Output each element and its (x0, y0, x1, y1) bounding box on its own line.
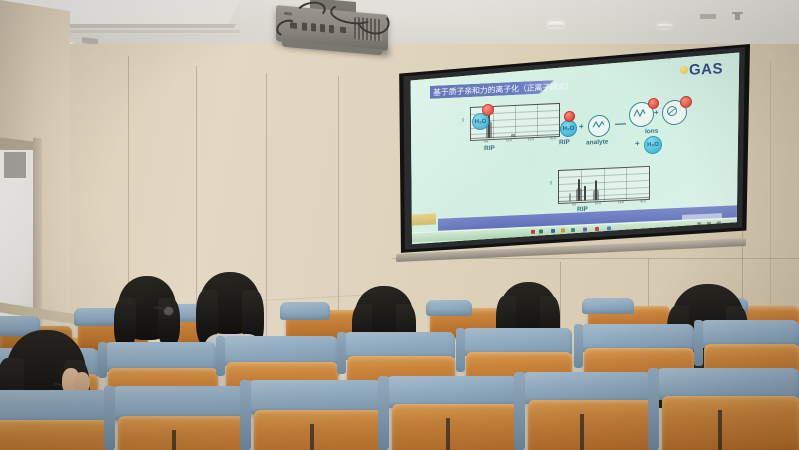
x-tick-label: 20.0 (640, 199, 646, 203)
seat-armrest (98, 342, 107, 378)
x-tick-label: 5.0 (484, 139, 488, 143)
x-tick-label: 10.0 (506, 138, 512, 142)
chart-plot-area (558, 166, 650, 204)
sprinkler-head (735, 12, 740, 20)
seat-armrest (104, 386, 115, 450)
gridline (537, 105, 538, 137)
projector-port (320, 24, 325, 32)
ion-structure-icon (665, 105, 681, 118)
projection-screen[interactable]: GAS 基于质子亲和力的离子化（正离子模式） (392, 44, 750, 256)
recessed-light (548, 22, 564, 27)
seat-armrest (694, 320, 703, 366)
projector-port (302, 22, 307, 30)
taskbar-icon[interactable] (583, 227, 587, 231)
projector-indicator (284, 12, 292, 16)
taskbar-icon[interactable] (571, 228, 575, 232)
seat-armrest (456, 328, 465, 372)
seat-armrest (648, 368, 659, 450)
x-tick-label: 15.0 (528, 137, 534, 141)
seat-armrest (378, 376, 389, 450)
ions-label: Ions (645, 128, 658, 136)
ceiling-vent (700, 14, 716, 19)
taskbar-icon[interactable] (551, 229, 555, 233)
lecture-hall-photo: GAS 基于质子亲和力的离子化（正离子模式） (0, 0, 799, 450)
y-axis-label: Int. (461, 117, 465, 121)
taskbar-icon[interactable] (561, 228, 565, 232)
analyte-label: analyte (586, 138, 608, 146)
gas-logo-dot-icon (680, 66, 688, 74)
seat-armrest (514, 372, 525, 450)
ion-peak-base (593, 189, 599, 200)
taskbar-icon[interactable] (539, 229, 543, 233)
seat-armrest (240, 380, 251, 450)
plus-sign: + (654, 108, 659, 117)
plus-sign: + (635, 139, 640, 148)
wall-panel-seam (266, 73, 267, 373)
projector-port (329, 25, 334, 33)
seat-armrest (216, 336, 225, 376)
taskbar-icon[interactable] (595, 227, 599, 231)
minor-peak (569, 193, 571, 201)
recessed-light (657, 24, 672, 28)
plus-sign: + (579, 122, 584, 131)
y-axis-label: Int. (549, 180, 553, 184)
x-tick-label: 15.0 (618, 200, 624, 204)
x-tick-label: 20.0 (550, 136, 556, 140)
door-shadow (4, 152, 26, 178)
x-tick-label: 5.0 (572, 202, 576, 206)
slide-footer-accent (411, 213, 436, 225)
projector-port (311, 23, 316, 31)
analyte-structure-icon (591, 119, 606, 131)
taskbar-icon[interactable] (531, 230, 535, 234)
projector-port (340, 27, 346, 34)
gas-logo-text: GAS (689, 60, 723, 79)
ion-peak (584, 186, 586, 201)
gridline (626, 168, 627, 200)
rip-label: RIP (559, 139, 570, 146)
taskbar-icon[interactable] (607, 226, 611, 230)
rip-chart-caption: RIP (484, 145, 495, 152)
gridline (515, 106, 516, 138)
seat-armrest (574, 324, 583, 368)
seat-armrest (337, 332, 346, 374)
gridline (604, 169, 605, 201)
reaction-arrow-icon: — (615, 118, 626, 130)
x-tick-label: 10.0 (595, 201, 601, 205)
ion-structure-icon (632, 107, 648, 120)
rip-peak-base (576, 188, 582, 201)
minor-peak (511, 134, 515, 137)
